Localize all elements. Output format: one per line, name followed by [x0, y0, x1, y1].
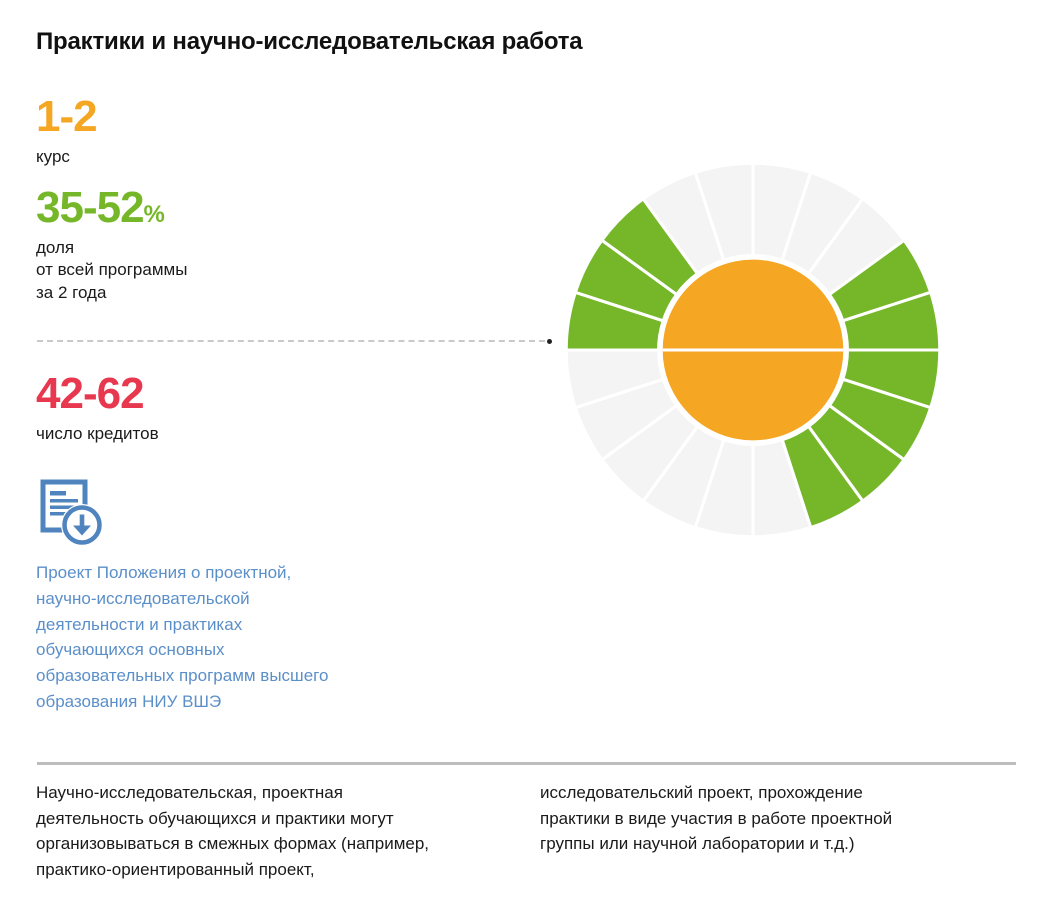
- stat-number-course: 1-2: [36, 92, 97, 141]
- document-link-line: образования НИУ ВШЭ: [36, 689, 436, 715]
- footnote-line: группы или научной лаборатории и т.д.): [540, 831, 1040, 857]
- dotted-divider: [37, 339, 552, 342]
- document-link-line: Проект Положения о проектной,: [36, 560, 436, 586]
- stat-value-credits: 42-62: [36, 372, 159, 416]
- stat-suffix-share: %: [144, 201, 165, 228]
- stat-value-course: 1-2: [36, 95, 97, 139]
- stat-value-share: 35-52%: [36, 186, 187, 230]
- stat-caption-line: курс: [36, 146, 97, 168]
- stat-caption-line: за 2 года: [36, 282, 187, 304]
- page-title: Практики и научно-исследовательская рабо…: [36, 28, 582, 56]
- stat-number-share: 35-52: [36, 183, 144, 232]
- stat-block-course: 1-2 курс: [36, 95, 97, 168]
- footnote-line: организовываться в смежных формах (напри…: [36, 831, 546, 857]
- document-link-line: деятельности и практиках: [36, 612, 436, 638]
- stat-caption-course: курс: [36, 146, 97, 168]
- footnote-line: Научно-исследовательская, проектная: [36, 780, 546, 806]
- stat-block-share: 35-52% доля от всей программы за 2 года: [36, 186, 187, 304]
- footnote-line: деятельность обучающихся и практики могу…: [36, 806, 546, 832]
- stat-number-credits: 42-62: [36, 369, 144, 418]
- document-link[interactable]: Проект Положения о проектной, научно-исс…: [36, 560, 436, 715]
- stat-caption-share: доля от всей программы за 2 года: [36, 237, 187, 304]
- divider-end-dot: [547, 339, 552, 344]
- footnote-line: практико-ориентированный проект,: [36, 857, 546, 883]
- document-download-icon[interactable]: [37, 478, 109, 550]
- footnote-line: исследовательский проект, прохождение: [540, 780, 1040, 806]
- stat-caption-line: число кредитов: [36, 423, 159, 445]
- footnote-line: практики в виде участия в работе проектн…: [540, 806, 1040, 832]
- document-link-line: научно-исследовательской: [36, 586, 436, 612]
- donut-chart: [558, 155, 948, 545]
- footnote-right: исследовательский проект, прохождение пр…: [540, 780, 1040, 857]
- stat-caption-line: от всей программы: [36, 259, 187, 281]
- stat-block-credits: 42-62 число кредитов: [36, 372, 159, 445]
- footnote-left: Научно-исследовательская, проектная деят…: [36, 780, 546, 882]
- stat-caption-line: доля: [36, 237, 187, 259]
- divider-dash-line: [37, 340, 545, 342]
- stat-caption-credits: число кредитов: [36, 423, 159, 445]
- document-link-line: обучающихся основных: [36, 637, 436, 663]
- document-link-line: образовательных программ высшего: [36, 663, 436, 689]
- bottom-divider: [37, 762, 1016, 765]
